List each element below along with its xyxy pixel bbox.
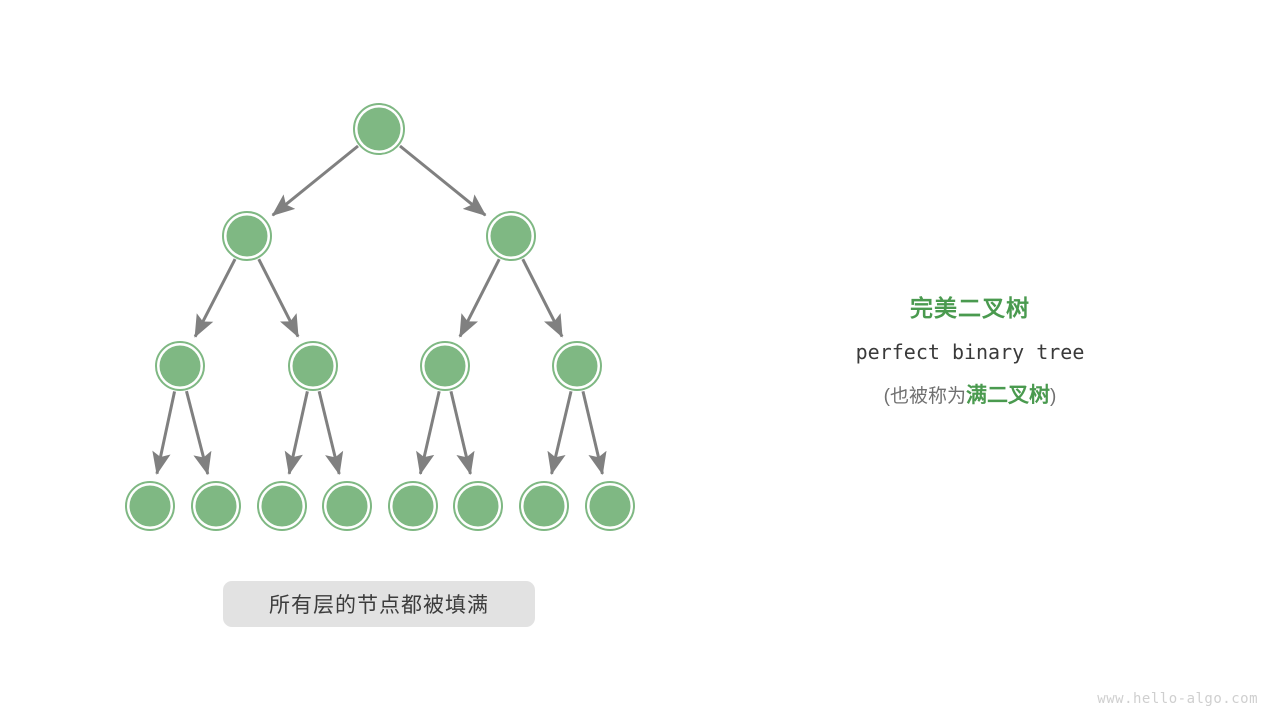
- tree-edge: [400, 146, 485, 215]
- legend-alt-prefix: (也被称为: [884, 386, 966, 407]
- node-disc: [590, 486, 631, 527]
- node-disc: [393, 486, 434, 527]
- tree-node[interactable]: [553, 342, 601, 390]
- tree-node[interactable]: [454, 482, 502, 530]
- tree-edge: [273, 146, 358, 215]
- caption-text: 所有层的节点都被填满: [269, 589, 489, 619]
- tree-node[interactable]: [192, 482, 240, 530]
- tree-edge: [583, 391, 602, 474]
- legend-alternate-name: (也被称为满二叉树): [790, 381, 1150, 412]
- tree-node[interactable]: [389, 482, 437, 530]
- tree-edge: [259, 259, 298, 336]
- node-disc: [358, 108, 401, 151]
- node-disc: [196, 486, 237, 527]
- legend-title: 完美二叉树: [790, 293, 1150, 323]
- tree-edge: [157, 391, 175, 473]
- tree-node[interactable]: [487, 212, 535, 260]
- node-disc: [491, 216, 532, 257]
- tree-edge: [552, 391, 571, 474]
- node-disc: [262, 486, 303, 527]
- tree-node[interactable]: [126, 482, 174, 530]
- tree-node[interactable]: [586, 482, 634, 530]
- watermark: www.hello-algo.com: [1097, 691, 1258, 707]
- tree-edge: [186, 391, 207, 474]
- node-layer: [126, 104, 634, 530]
- node-disc: [227, 216, 268, 257]
- tree-edge: [195, 259, 235, 337]
- node-disc: [425, 346, 466, 387]
- node-disc: [130, 486, 171, 527]
- node-disc: [327, 486, 368, 527]
- legend-subtitle: perfect binary tree: [790, 337, 1150, 367]
- tree-node[interactable]: [156, 342, 204, 390]
- tree-edge: [451, 391, 470, 474]
- node-disc: [524, 486, 565, 527]
- tree-node[interactable]: [354, 104, 404, 154]
- tree-edge: [420, 391, 439, 473]
- legend-alt-suffix: ): [1050, 386, 1056, 407]
- node-disc: [557, 346, 598, 387]
- tree-node[interactable]: [258, 482, 306, 530]
- diagram-canvas: 所有层的节点都被填满 完美二叉树 perfect binary tree (也被…: [0, 0, 1280, 720]
- node-disc: [293, 346, 334, 387]
- node-disc: [458, 486, 499, 527]
- tree-edge: [523, 259, 562, 336]
- edge-layer: [157, 146, 603, 474]
- node-disc: [160, 346, 201, 387]
- tree-node[interactable]: [323, 482, 371, 530]
- tree-edge: [289, 391, 307, 473]
- caption-pill: 所有层的节点都被填满: [223, 581, 535, 627]
- tree-node[interactable]: [223, 212, 271, 260]
- legend-alt-highlight: 满二叉树: [966, 384, 1050, 407]
- tree-edge: [319, 391, 339, 474]
- legend-block: 完美二叉树 perfect binary tree (也被称为满二叉树): [790, 293, 1150, 412]
- tree-node[interactable]: [421, 342, 469, 390]
- tree-node[interactable]: [289, 342, 337, 390]
- tree-node[interactable]: [520, 482, 568, 530]
- tree-edge: [460, 259, 499, 336]
